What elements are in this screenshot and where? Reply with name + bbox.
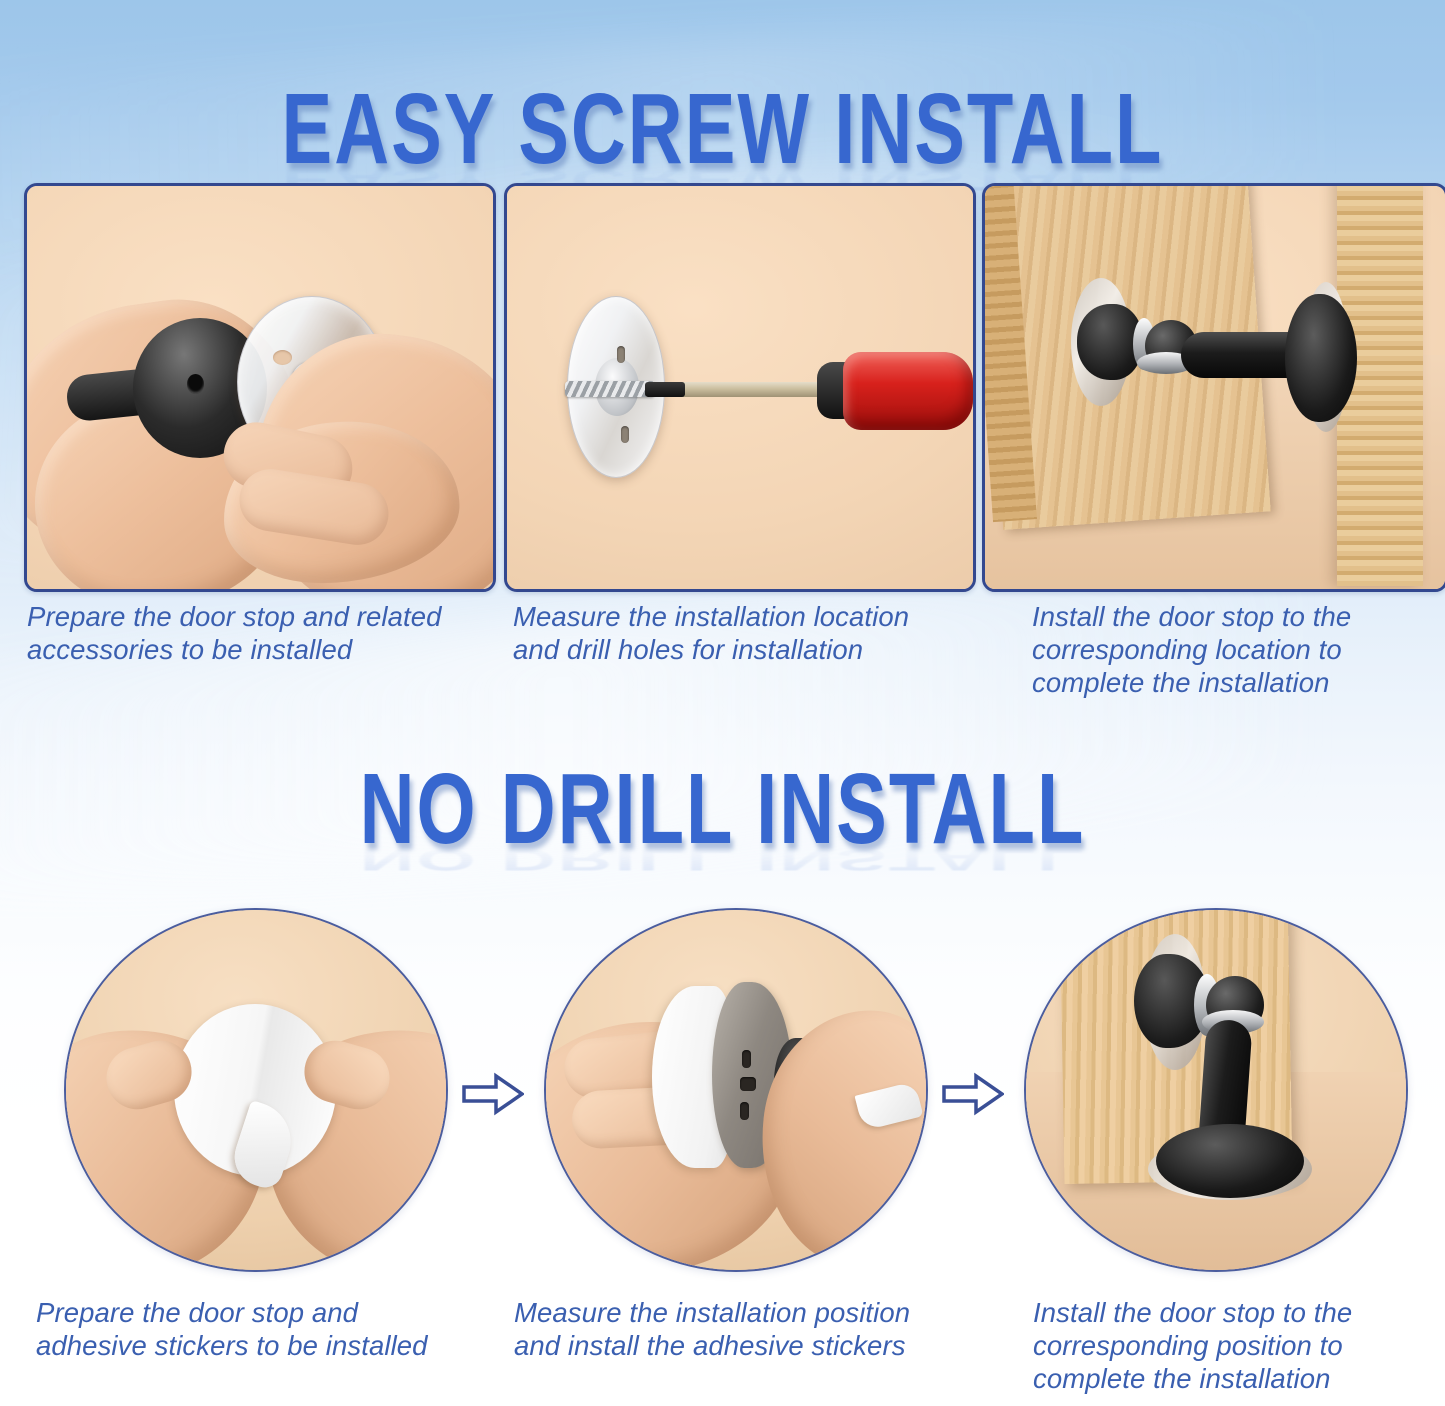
photo-circle-nodrill-step-3 [1024,908,1408,1272]
plate-slot-upper [742,1050,751,1068]
photo-panel-screw-step-1 [24,183,496,592]
photo-circle-nodrill-step-2 [544,908,928,1272]
caption-nodrill-step-1: Prepare the door stop and adhesive stick… [36,1296,506,1362]
heading-easy-screw-install: EASY SCREW INSTALL [0,72,1445,187]
plate-slot-lower [740,1102,749,1120]
infographic-root: EASY SCREW INSTALL EASY SCREW INSTALL [0,0,1445,1406]
caption-nodrill-step-3: Install the door stop to the correspondi… [1033,1296,1445,1395]
photo-circle-nodrill-step-1 [64,908,448,1272]
plate-slot-upper [617,346,625,363]
plate-slot-lower [621,426,629,443]
screwdriver-shaft [679,382,827,397]
wall-side-black-base [1285,294,1357,422]
caption-screw-step-2: Measure the installation location and dr… [513,600,983,666]
scene-hands-with-door-stop [27,186,493,589]
caption-nodrill-step-2: Measure the installation position and in… [514,1296,984,1362]
caption-screw-step-3: Install the door stop to the correspondi… [1032,600,1445,699]
screwdriver-red-handle [843,352,973,430]
screwdriver-bit [645,382,685,397]
plate-hole-1 [273,350,292,365]
caption-screw-step-1: Prepare the door stop and related access… [27,600,497,666]
plate-slot-center [740,1077,756,1091]
heading-no-drill-install: NO DRILL INSTALL [0,752,1445,867]
right-arrow-icon [462,1072,524,1116]
photo-panel-screw-step-3 [982,183,1445,592]
right-arrow-icon [942,1072,1004,1116]
scene-screwdriver-install [507,186,973,589]
door-stop-base [1156,1124,1304,1198]
door-stop-screw-hole [187,374,204,394]
scene-installed-door-stop [985,186,1445,589]
screw-threads [565,381,655,397]
photo-panel-screw-step-2 [504,183,976,592]
